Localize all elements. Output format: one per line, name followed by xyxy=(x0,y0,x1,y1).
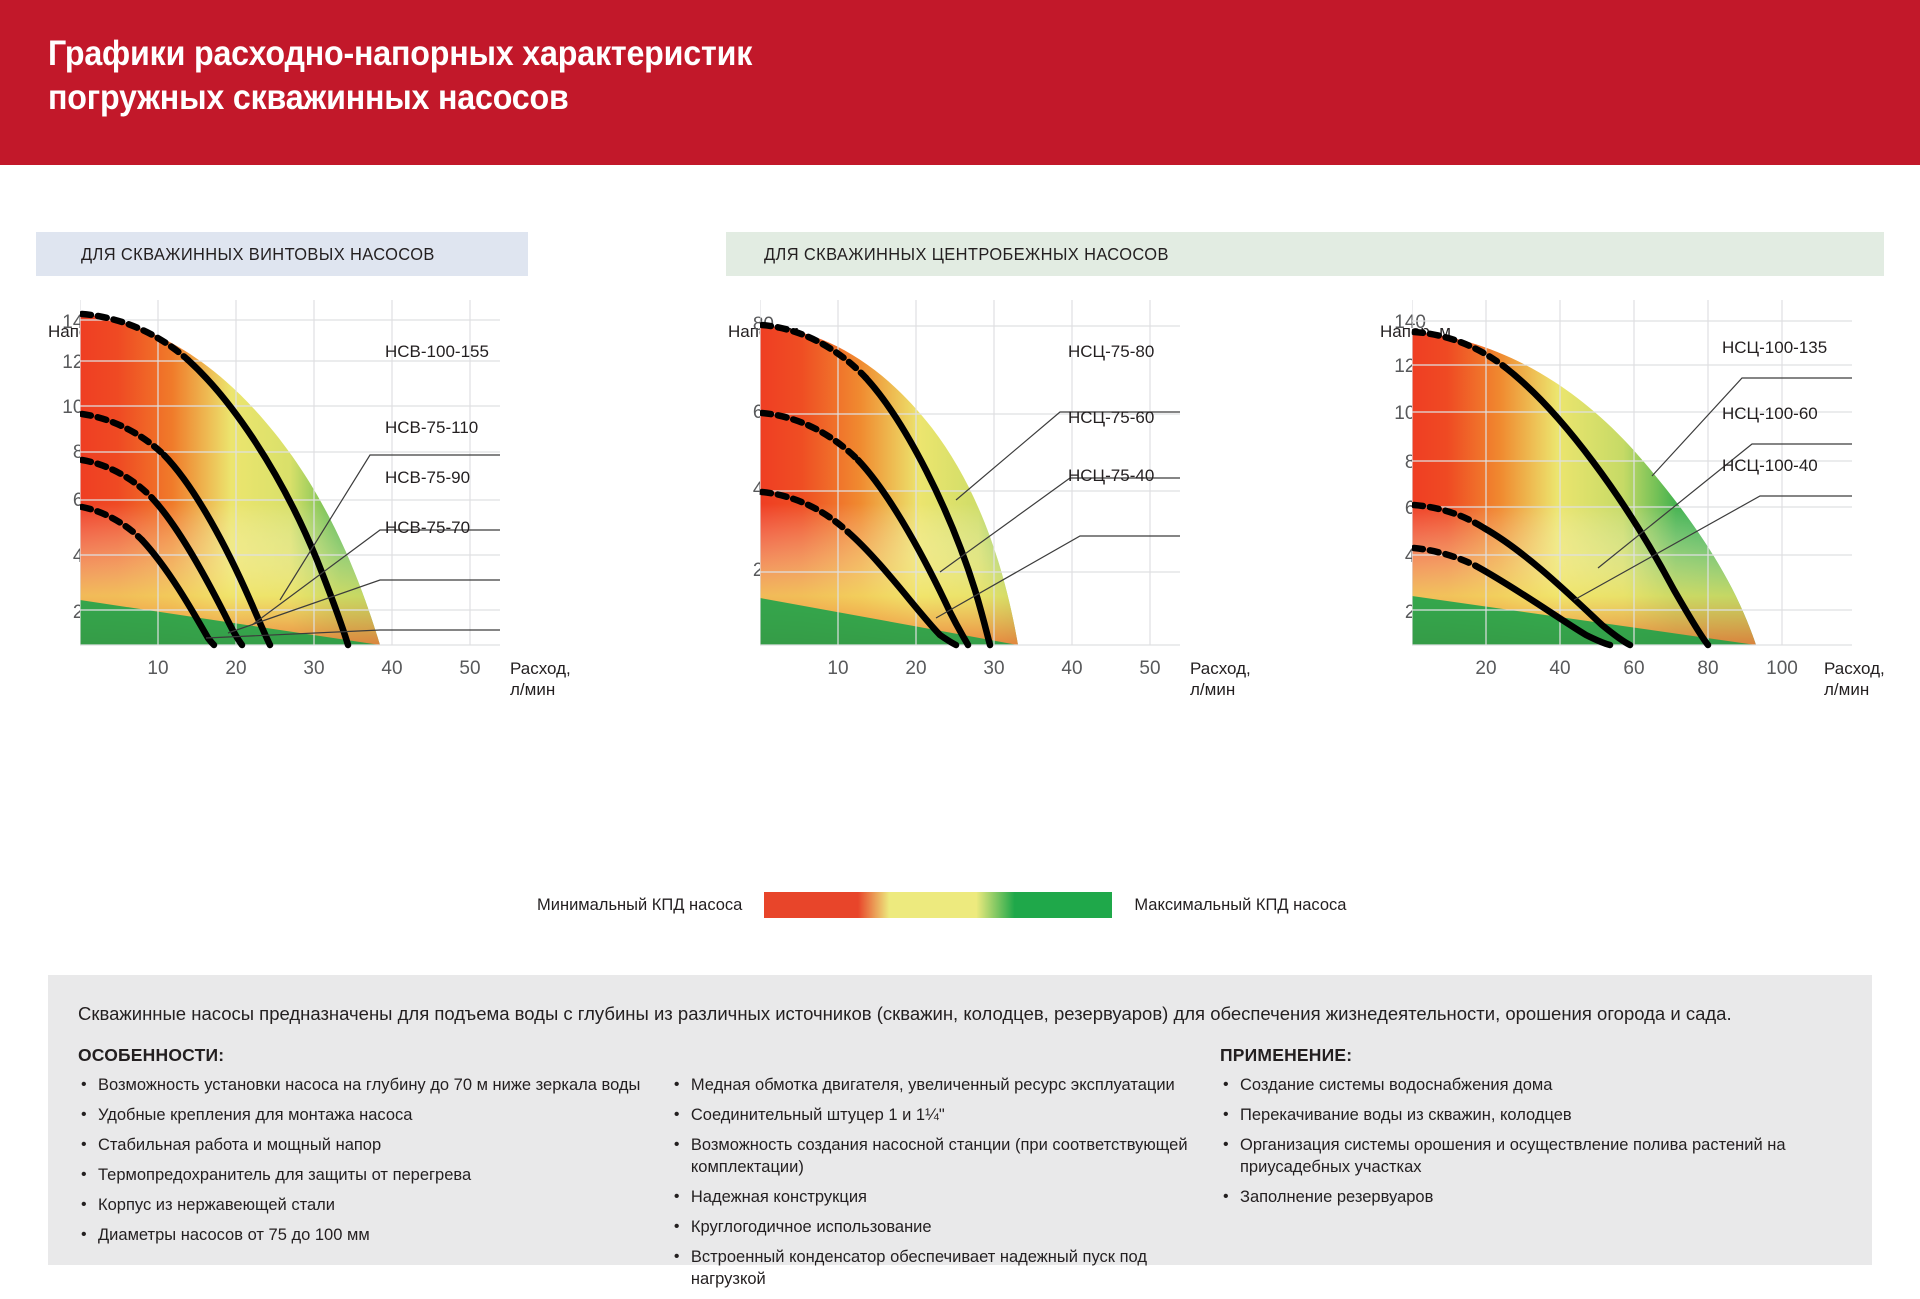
section-header-centrifugal-pumps-label: ДЛЯ СКВАЖИННЫХ ЦЕНТРОБЕЖНЫХ НАСОСОВ xyxy=(764,244,1169,265)
legend-max-efficiency-label: Максимальный КПД насоса xyxy=(1134,896,1346,915)
applications-list: Создание системы водоснабжения дома Пере… xyxy=(1220,1075,1842,1209)
section-header-centrifugal-pumps: ДЛЯ СКВАЖИННЫХ ЦЕНТРОБЕЖНЫХ НАСОСОВ xyxy=(726,232,1884,276)
list-item: Организация системы орошения и осуществл… xyxy=(1220,1135,1842,1179)
chart-cent75-callout-nsc-75-60: НСЦ-75-60 xyxy=(1068,408,1154,428)
chart-cent75-xtick-40: 40 xyxy=(1042,658,1102,680)
features-heading: ОСОБЕННОСТИ: xyxy=(78,1045,671,1066)
list-item: Стабильная работа и мощный напор xyxy=(78,1135,671,1157)
chart-screw-callout-nsv-75-110: НСВ-75-110 xyxy=(385,418,478,438)
chart-screw-xtick-40: 40 xyxy=(362,658,422,680)
list-item: Соединительный штуцер 1 и 1¼" xyxy=(671,1105,1220,1127)
chart-screw-callout-nsv-100-155: НСВ-100-155 xyxy=(385,342,489,362)
chart-cent75-x-axis-title: Расход, л/мин xyxy=(1190,658,1251,701)
chart-cent100-callout-nsc-100-135: НСЦ-100-135 xyxy=(1722,338,1827,358)
list-item: Создание системы водоснабжения дома xyxy=(1220,1075,1842,1097)
chart-screw-xtick-10: 10 xyxy=(128,658,188,680)
list-item: Встроенный конденсатор обеспечивает наде… xyxy=(671,1247,1220,1291)
chart-cent75-callout-nsc-75-80: НСЦ-75-80 xyxy=(1068,342,1154,362)
chart-screw-xtick-50: 50 xyxy=(440,658,500,680)
list-item: Корпус из нержавеющей стали xyxy=(78,1195,671,1217)
section-header-screw-pumps-label: ДЛЯ СКВАЖИННЫХ ВИНТОВЫХ НАСОСОВ xyxy=(81,244,435,265)
chart-cent100-x-axis-title: Расход, л/мин xyxy=(1824,658,1885,701)
chart-screw-xtick-30: 30 xyxy=(284,658,344,680)
applications-column: ПРИМЕНЕНИЕ: Создание системы водоснабжен… xyxy=(1220,1045,1842,1299)
list-item: Удобные крепления для монтажа насоса xyxy=(78,1105,671,1127)
application-heading: ПРИМЕНЕНИЕ: xyxy=(1220,1045,1842,1066)
list-item: Возможность создания насосной станции (п… xyxy=(671,1135,1220,1179)
features-column-1: ОСОБЕННОСТИ: Возможность установки насос… xyxy=(78,1045,671,1299)
features-list-2: Медная обмотка двигателя, увеличенный ре… xyxy=(671,1075,1220,1291)
list-item: Медная обмотка двигателя, увеличенный ре… xyxy=(671,1075,1220,1097)
chart-cent100-xtick-40: 40 xyxy=(1530,658,1590,680)
charts-container: Напор, м 20 40 60 80 100 120 140 xyxy=(0,300,1920,890)
list-item: Возможность установки насоса на глубину … xyxy=(78,1075,671,1097)
info-panel-columns: ОСОБЕННОСТИ: Возможность установки насос… xyxy=(78,1045,1842,1299)
page-title: Графики расходно-напорных характеристик … xyxy=(48,32,752,120)
efficiency-legend: Минимальный КПД насоса Максимальный КПД … xyxy=(0,892,1920,938)
chart-screw-xtick-20: 20 xyxy=(206,658,266,680)
legend-min-efficiency-label: Минимальный КПД насоса xyxy=(537,896,742,915)
chart-cent75-xtick-30: 30 xyxy=(964,658,1024,680)
chart-cent100-xtick-20: 20 xyxy=(1456,658,1516,680)
list-item: Круглогодичное использование xyxy=(671,1217,1220,1239)
chart-cent75-xtick-50: 50 xyxy=(1120,658,1180,680)
chart-screw-callout-nsv-75-90: НСВ-75-90 xyxy=(385,468,470,488)
list-item: Термопредохранитель для защиты от перегр… xyxy=(78,1165,671,1187)
chart-screw-callout-nsv-75-70: НСВ-75-70 xyxy=(385,518,470,538)
info-panel-intro: Скважинные насосы предназначены для подъ… xyxy=(78,1001,1838,1027)
list-item: Заполнение резервуаров xyxy=(1220,1187,1842,1209)
legend-gradient-bar xyxy=(764,892,1112,918)
chart-cent100-callout-nsc-100-60: НСЦ-100-60 xyxy=(1722,404,1818,424)
chart-screw-x-axis-title: Расход, л/мин xyxy=(510,658,571,701)
chart-cent100-callout-nsc-100-40: НСЦ-100-40 xyxy=(1722,456,1818,476)
list-item: Диаметры насосов от 75 до 100 мм xyxy=(78,1225,671,1247)
chart-cent75-xtick-10: 10 xyxy=(808,658,868,680)
chart-cent75-callout-nsc-75-40: НСЦ-75-40 xyxy=(1068,466,1154,486)
chart-cent75-xtick-20: 20 xyxy=(886,658,946,680)
section-header-bars: ДЛЯ СКВАЖИННЫХ ВИНТОВЫХ НАСОСОВ ДЛЯ СКВА… xyxy=(0,232,1920,276)
chart-cent100-xtick-60: 60 xyxy=(1604,658,1664,680)
chart-cent100-xtick-80: 80 xyxy=(1678,658,1738,680)
features-column-2: ОСОБЕННОСТИ: Медная обмотка двигателя, у… xyxy=(671,1045,1220,1299)
section-header-screw-pumps: ДЛЯ СКВАЖИННЫХ ВИНТОВЫХ НАСОСОВ xyxy=(36,232,528,276)
chart-cent100-xtick-100: 100 xyxy=(1752,658,1812,680)
info-panel: Скважинные насосы предназначены для подъ… xyxy=(48,975,1872,1265)
features-list-1: Возможность установки насоса на глубину … xyxy=(78,1075,671,1247)
page-header: Графики расходно-напорных характеристик … xyxy=(0,0,1920,165)
list-item: Надежная конструкция xyxy=(671,1187,1220,1209)
list-item: Перекачивание воды из скважин, колодцев xyxy=(1220,1105,1842,1127)
